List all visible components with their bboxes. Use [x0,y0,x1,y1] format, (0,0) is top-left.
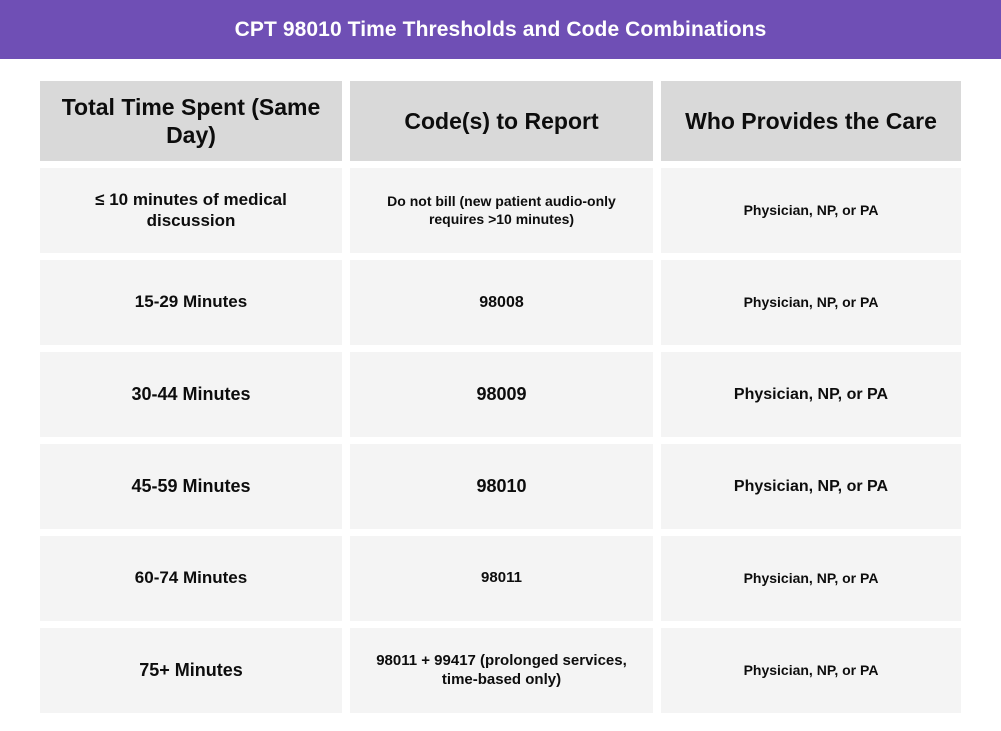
cell-code-to-report: 98010 [350,444,653,529]
table-header-row: Total Time Spent (Same Day) Code(s) to R… [40,81,961,161]
cell-time-spent: 75+ Minutes [40,628,342,713]
cell-provider: Physician, NP, or PA [661,536,961,621]
cell-code-to-report: 98011 [350,536,653,621]
cell-time-spent: 30-44 Minutes [40,352,342,437]
table-row: 30-44 Minutes 98009 Physician, NP, or PA [40,352,961,437]
cell-code-to-report: Do not bill (new patient audio-only requ… [350,168,653,253]
page-root: CPT 98010 Time Thresholds and Code Combi… [0,0,1001,731]
title-banner: CPT 98010 Time Thresholds and Code Combi… [0,0,1001,59]
cpt-time-threshold-table: Total Time Spent (Same Day) Code(s) to R… [40,81,961,713]
table-row: ≤ 10 minutes of medical discussion Do no… [40,168,961,253]
cell-provider: Physician, NP, or PA [661,260,961,345]
cell-time-spent: 15-29 Minutes [40,260,342,345]
column-header-who-provides-care: Who Provides the Care [661,81,961,161]
cell-provider: Physician, NP, or PA [661,352,961,437]
cell-time-spent: ≤ 10 minutes of medical discussion [40,168,342,253]
cell-provider: Physician, NP, or PA [661,168,961,253]
column-header-total-time-spent: Total Time Spent (Same Day) [40,81,342,161]
cell-time-spent: 60-74 Minutes [40,536,342,621]
table-row: 45-59 Minutes 98010 Physician, NP, or PA [40,444,961,529]
table-row: 15-29 Minutes 98008 Physician, NP, or PA [40,260,961,345]
page-title: CPT 98010 Time Thresholds and Code Combi… [235,18,767,41]
table-row: 75+ Minutes 98011 + 99417 (prolonged ser… [40,628,961,713]
cell-code-to-report: 98008 [350,260,653,345]
cell-provider: Physician, NP, or PA [661,444,961,529]
cell-code-to-report: 98011 + 99417 (prolonged services, time-… [350,628,653,713]
column-header-codes-to-report: Code(s) to Report [350,81,653,161]
cell-time-spent: 45-59 Minutes [40,444,342,529]
cell-code-to-report: 98009 [350,352,653,437]
cell-provider: Physician, NP, or PA [661,628,961,713]
table-row: 60-74 Minutes 98011 Physician, NP, or PA [40,536,961,621]
